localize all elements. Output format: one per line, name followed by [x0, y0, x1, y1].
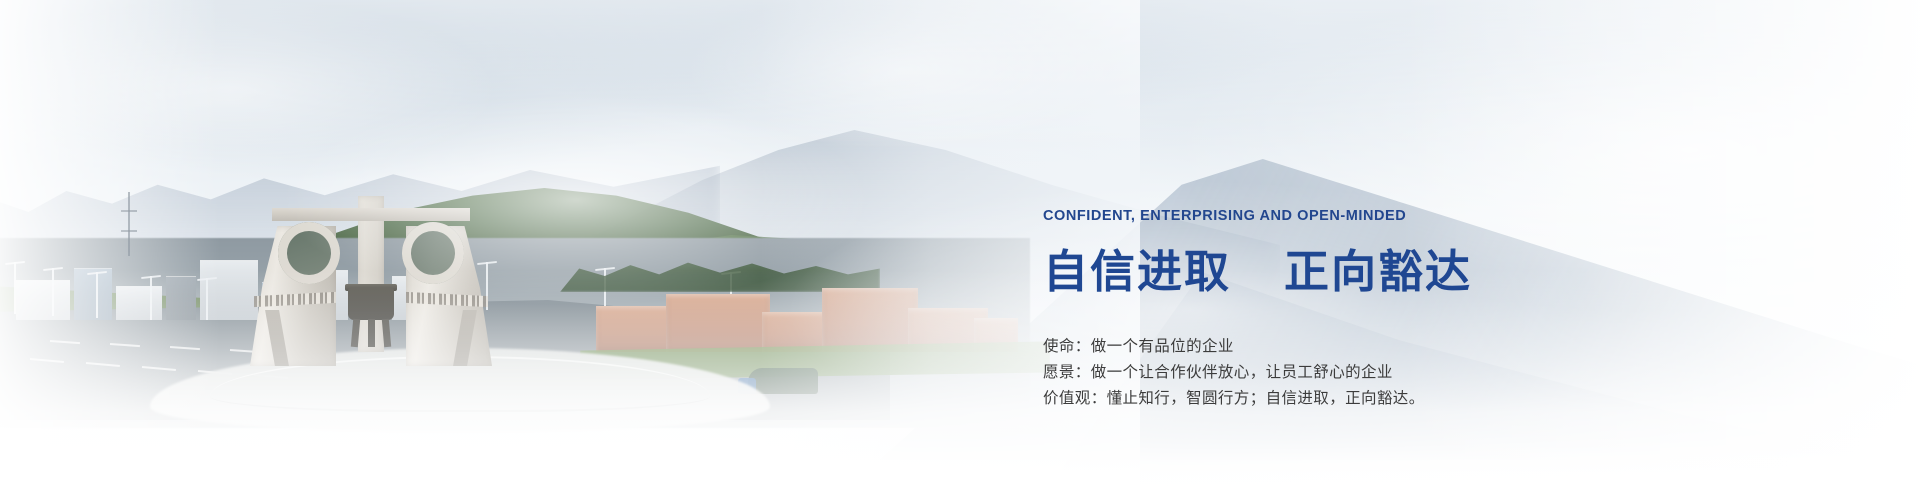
mist-left-edge	[0, 0, 220, 500]
motto-vision: 愿景：做一个让合作伙伴放心，让员工舒心的企业	[1043, 360, 1683, 386]
headline-part-1: 自信进取	[1043, 246, 1231, 297]
motto-mission: 使命：做一个有品位的企业	[1043, 334, 1683, 360]
banner-text-block: CONFIDENT, ENTERPRISING AND OPEN-MINDED …	[1043, 208, 1683, 412]
motto-values: 价值观：懂止知行，智圆行方；自信进取，正向豁达。	[1043, 386, 1683, 412]
banner-mottos: 使命：做一个有品位的企业 愿景：做一个让合作伙伴放心，让员工舒心的企业 价值观：…	[1043, 334, 1683, 412]
headline-part-2: 正向豁达	[1284, 246, 1472, 297]
corporate-culture-banner: CONFIDENT, ENTERPRISING AND OPEN-MINDED …	[0, 0, 1920, 500]
banner-headline: 自信进取 正向豁达	[1043, 245, 1683, 298]
banner-eyebrow-english: CONFIDENT, ENTERPRISING AND OPEN-MINDED	[1043, 208, 1683, 225]
